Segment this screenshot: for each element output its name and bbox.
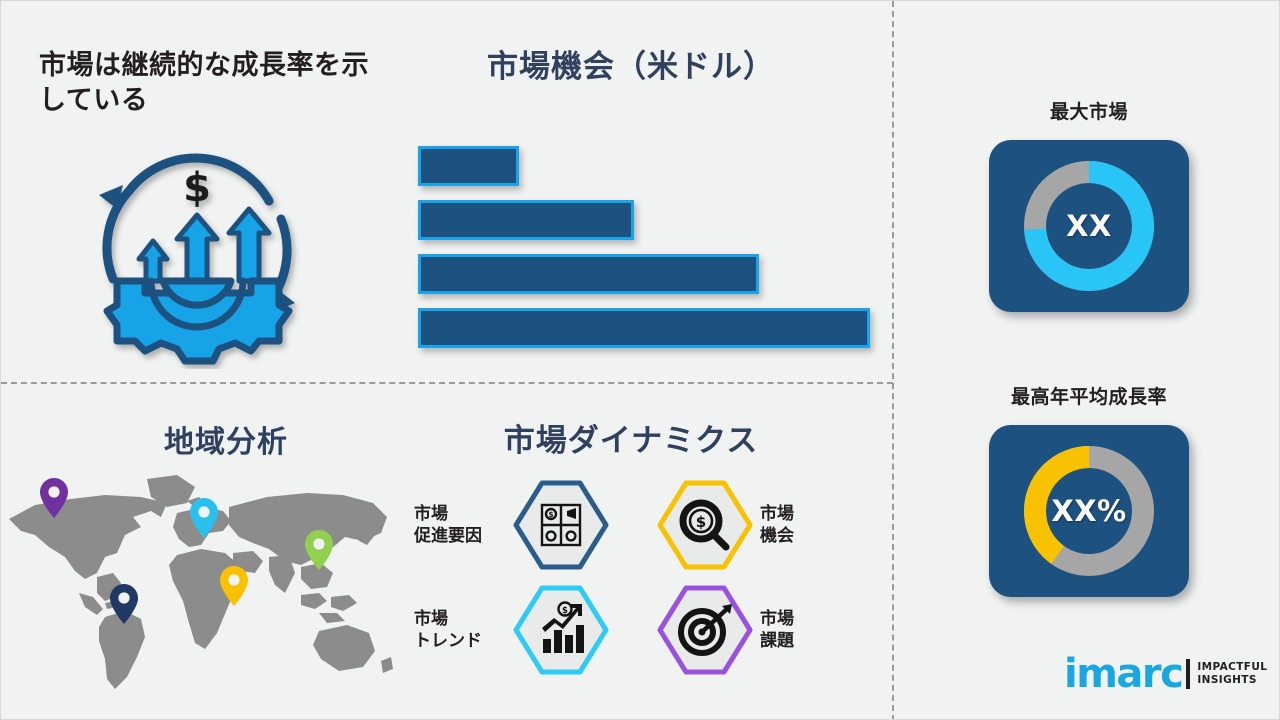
vertical-divider	[892, 1, 894, 720]
horizontal-divider	[1, 382, 893, 384]
svg-text:$: $	[183, 165, 211, 211]
dynamics-label-drivers: 市場 促進要因	[414, 503, 506, 548]
logo-divider	[1186, 659, 1190, 689]
dynamics-item-challenges[interactable]: 市場 課題	[656, 584, 852, 676]
dynamics-label-challenges: 市場 課題	[760, 608, 852, 653]
bar-2	[418, 200, 634, 240]
gauge-title-highest-cagr: 最高年平均成長率	[949, 382, 1229, 409]
growth-cycle-gear-icon: $	[73, 129, 321, 369]
logo-wordmark: imarc	[1064, 654, 1182, 694]
gauge-title-largest-market: 最大市場	[949, 97, 1229, 124]
dynamics-panel-title: 市場ダイナミクス	[401, 423, 861, 460]
svg-text:$: $	[696, 513, 706, 531]
hexagon-drivers[interactable]: $	[512, 479, 610, 571]
svg-text:$: $	[548, 510, 553, 519]
hexagon-challenges[interactable]	[656, 584, 754, 676]
gauge-card-largest-market: XX	[989, 140, 1189, 312]
logo-tagline: IMPACTFUL INSIGHTS	[1197, 661, 1267, 687]
dynamics-label-opportunities: 市場 機会	[760, 503, 852, 548]
gauge-value-highest-cagr: XX%	[989, 425, 1189, 597]
svg-text:$: $	[562, 606, 568, 616]
imarc-logo[interactable]: imarc IMPACTFUL INSIGHTS	[1064, 651, 1267, 697]
dynamics-item-opportunities[interactable]: $ 市場 機会	[656, 479, 852, 571]
bar-row	[418, 254, 878, 294]
opportunity-panel-title: 市場機会（米ドル）	[401, 49, 861, 86]
gauge-value-largest-market: XX	[989, 140, 1189, 312]
hexagon-trends[interactable]: $	[512, 584, 610, 676]
regional-panel-title: 地域分析	[61, 425, 391, 461]
bar-row	[418, 146, 878, 186]
hexagon-opportunities[interactable]: $	[656, 479, 754, 571]
bar-4	[418, 308, 870, 348]
slide-canvas: 市場は継続的な成長率を示している $	[0, 0, 1280, 720]
bar-row	[418, 308, 878, 348]
dynamics-item-drivers[interactable]: 市場 促進要因 $	[414, 479, 610, 571]
bar-row	[418, 200, 878, 240]
growth-panel-title: 市場は継続的な成長率を示している	[39, 49, 379, 118]
pin-europe[interactable]	[189, 497, 219, 543]
market-dynamics-group: 市場 促進要因 $	[406, 479, 826, 684]
market-opportunity-bar-chart	[418, 146, 878, 351]
bar-1	[418, 146, 519, 186]
dynamics-label-trends: 市場 トレンド	[414, 608, 506, 653]
pin-africa[interactable]	[219, 565, 249, 611]
dynamics-item-trends[interactable]: 市場 トレンド $	[414, 584, 610, 676]
bar-3	[418, 254, 759, 294]
pin-south-america[interactable]	[109, 583, 139, 629]
world-map-icon	[1, 461, 401, 696]
pin-east-asia[interactable]	[304, 529, 334, 575]
pin-north-america[interactable]	[39, 477, 69, 523]
gauge-card-highest-cagr: XX%	[989, 425, 1189, 597]
